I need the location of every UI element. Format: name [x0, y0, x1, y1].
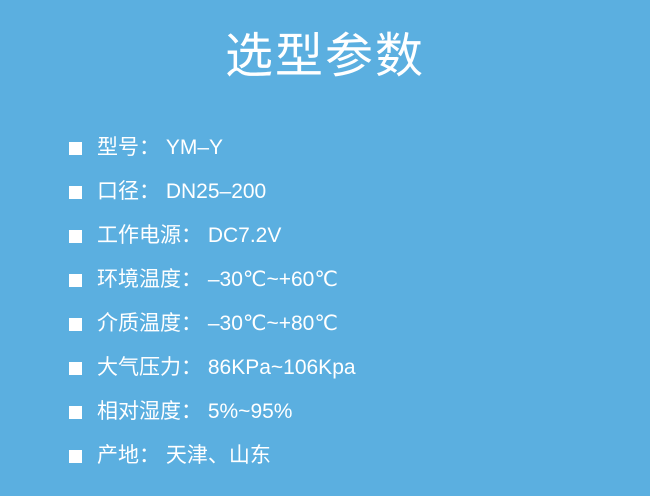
- square-bullet-icon: [69, 186, 82, 199]
- square-bullet-icon: [69, 142, 82, 155]
- square-bullet-icon: [69, 274, 82, 287]
- square-bullet-icon: [69, 406, 82, 419]
- page-title: 选型参数: [0, 26, 650, 88]
- list-item: 相对湿度： 5%~95%: [69, 390, 629, 434]
- list-item: 介质温度： –30℃~+80℃: [69, 302, 629, 346]
- square-bullet-icon: [69, 450, 82, 463]
- list-item-label: 相对湿度： 5%~95%: [97, 399, 292, 425]
- list-item: 型号： YM–Y: [69, 126, 629, 170]
- list-item-label: 产地： 天津、山东: [97, 443, 271, 469]
- list-item: 大气压力： 86KPa~106Kpa: [69, 346, 629, 390]
- list-item-label: 介质温度： –30℃~+80℃: [97, 311, 338, 337]
- list-item-label: 口径： DN25–200: [97, 179, 266, 205]
- square-bullet-icon: [69, 230, 82, 243]
- list-item: 产地： 天津、山东: [69, 434, 629, 478]
- list-item-label: 大气压力： 86KPa~106Kpa: [97, 355, 356, 381]
- list-item: 工作电源： DC7.2V: [69, 214, 629, 258]
- square-bullet-icon: [69, 318, 82, 331]
- spec-panel: 选型参数 型号： YM–Y 口径： DN25–200 工作电源： DC7.2V …: [0, 0, 650, 496]
- list-item-label: 型号： YM–Y: [97, 135, 223, 161]
- spec-list: 型号： YM–Y 口径： DN25–200 工作电源： DC7.2V 环境温度：…: [69, 126, 629, 478]
- list-item: 口径： DN25–200: [69, 170, 629, 214]
- square-bullet-icon: [69, 362, 82, 375]
- list-item: 环境温度： –30℃~+60℃: [69, 258, 629, 302]
- list-item-label: 环境温度： –30℃~+60℃: [97, 267, 338, 293]
- list-item-label: 工作电源： DC7.2V: [97, 223, 281, 249]
